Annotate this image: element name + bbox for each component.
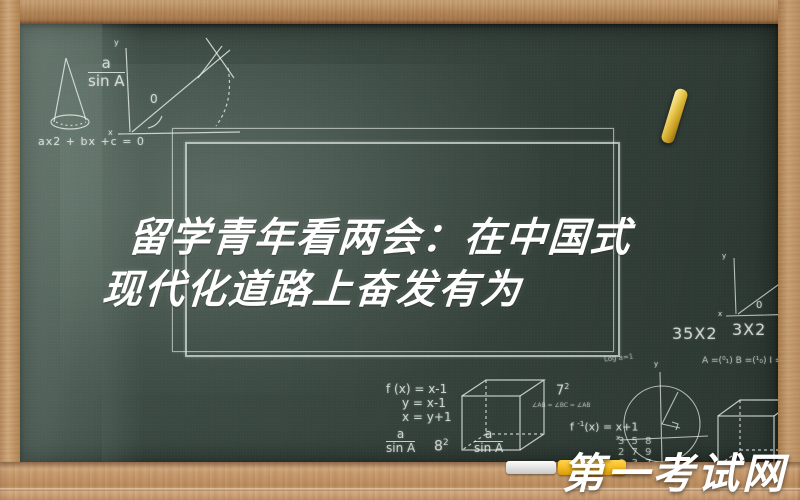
site-watermark: 第一考试网 [562, 450, 787, 498]
chalkboard-banner-image: a sin A ax2 + bx +c = 0 y x 0 f (x) = x-… [0, 0, 800, 500]
title-line-2: 现代化道路上奋发有为 [94, 264, 738, 316]
wooden-frame-left [0, 0, 20, 500]
wooden-frame-top [0, 0, 800, 24]
wooden-frame-right [778, 0, 800, 500]
title-line-1: 留学青年看两会：在中国式 [98, 212, 742, 264]
page-title: 留学青年看两会：在中国式 现代化道路上奋发有为 [94, 212, 741, 316]
chalkboard-eraser [506, 461, 556, 474]
chalkboard-surface: a sin A ax2 + bx +c = 0 y x 0 f (x) = x-… [20, 24, 778, 462]
